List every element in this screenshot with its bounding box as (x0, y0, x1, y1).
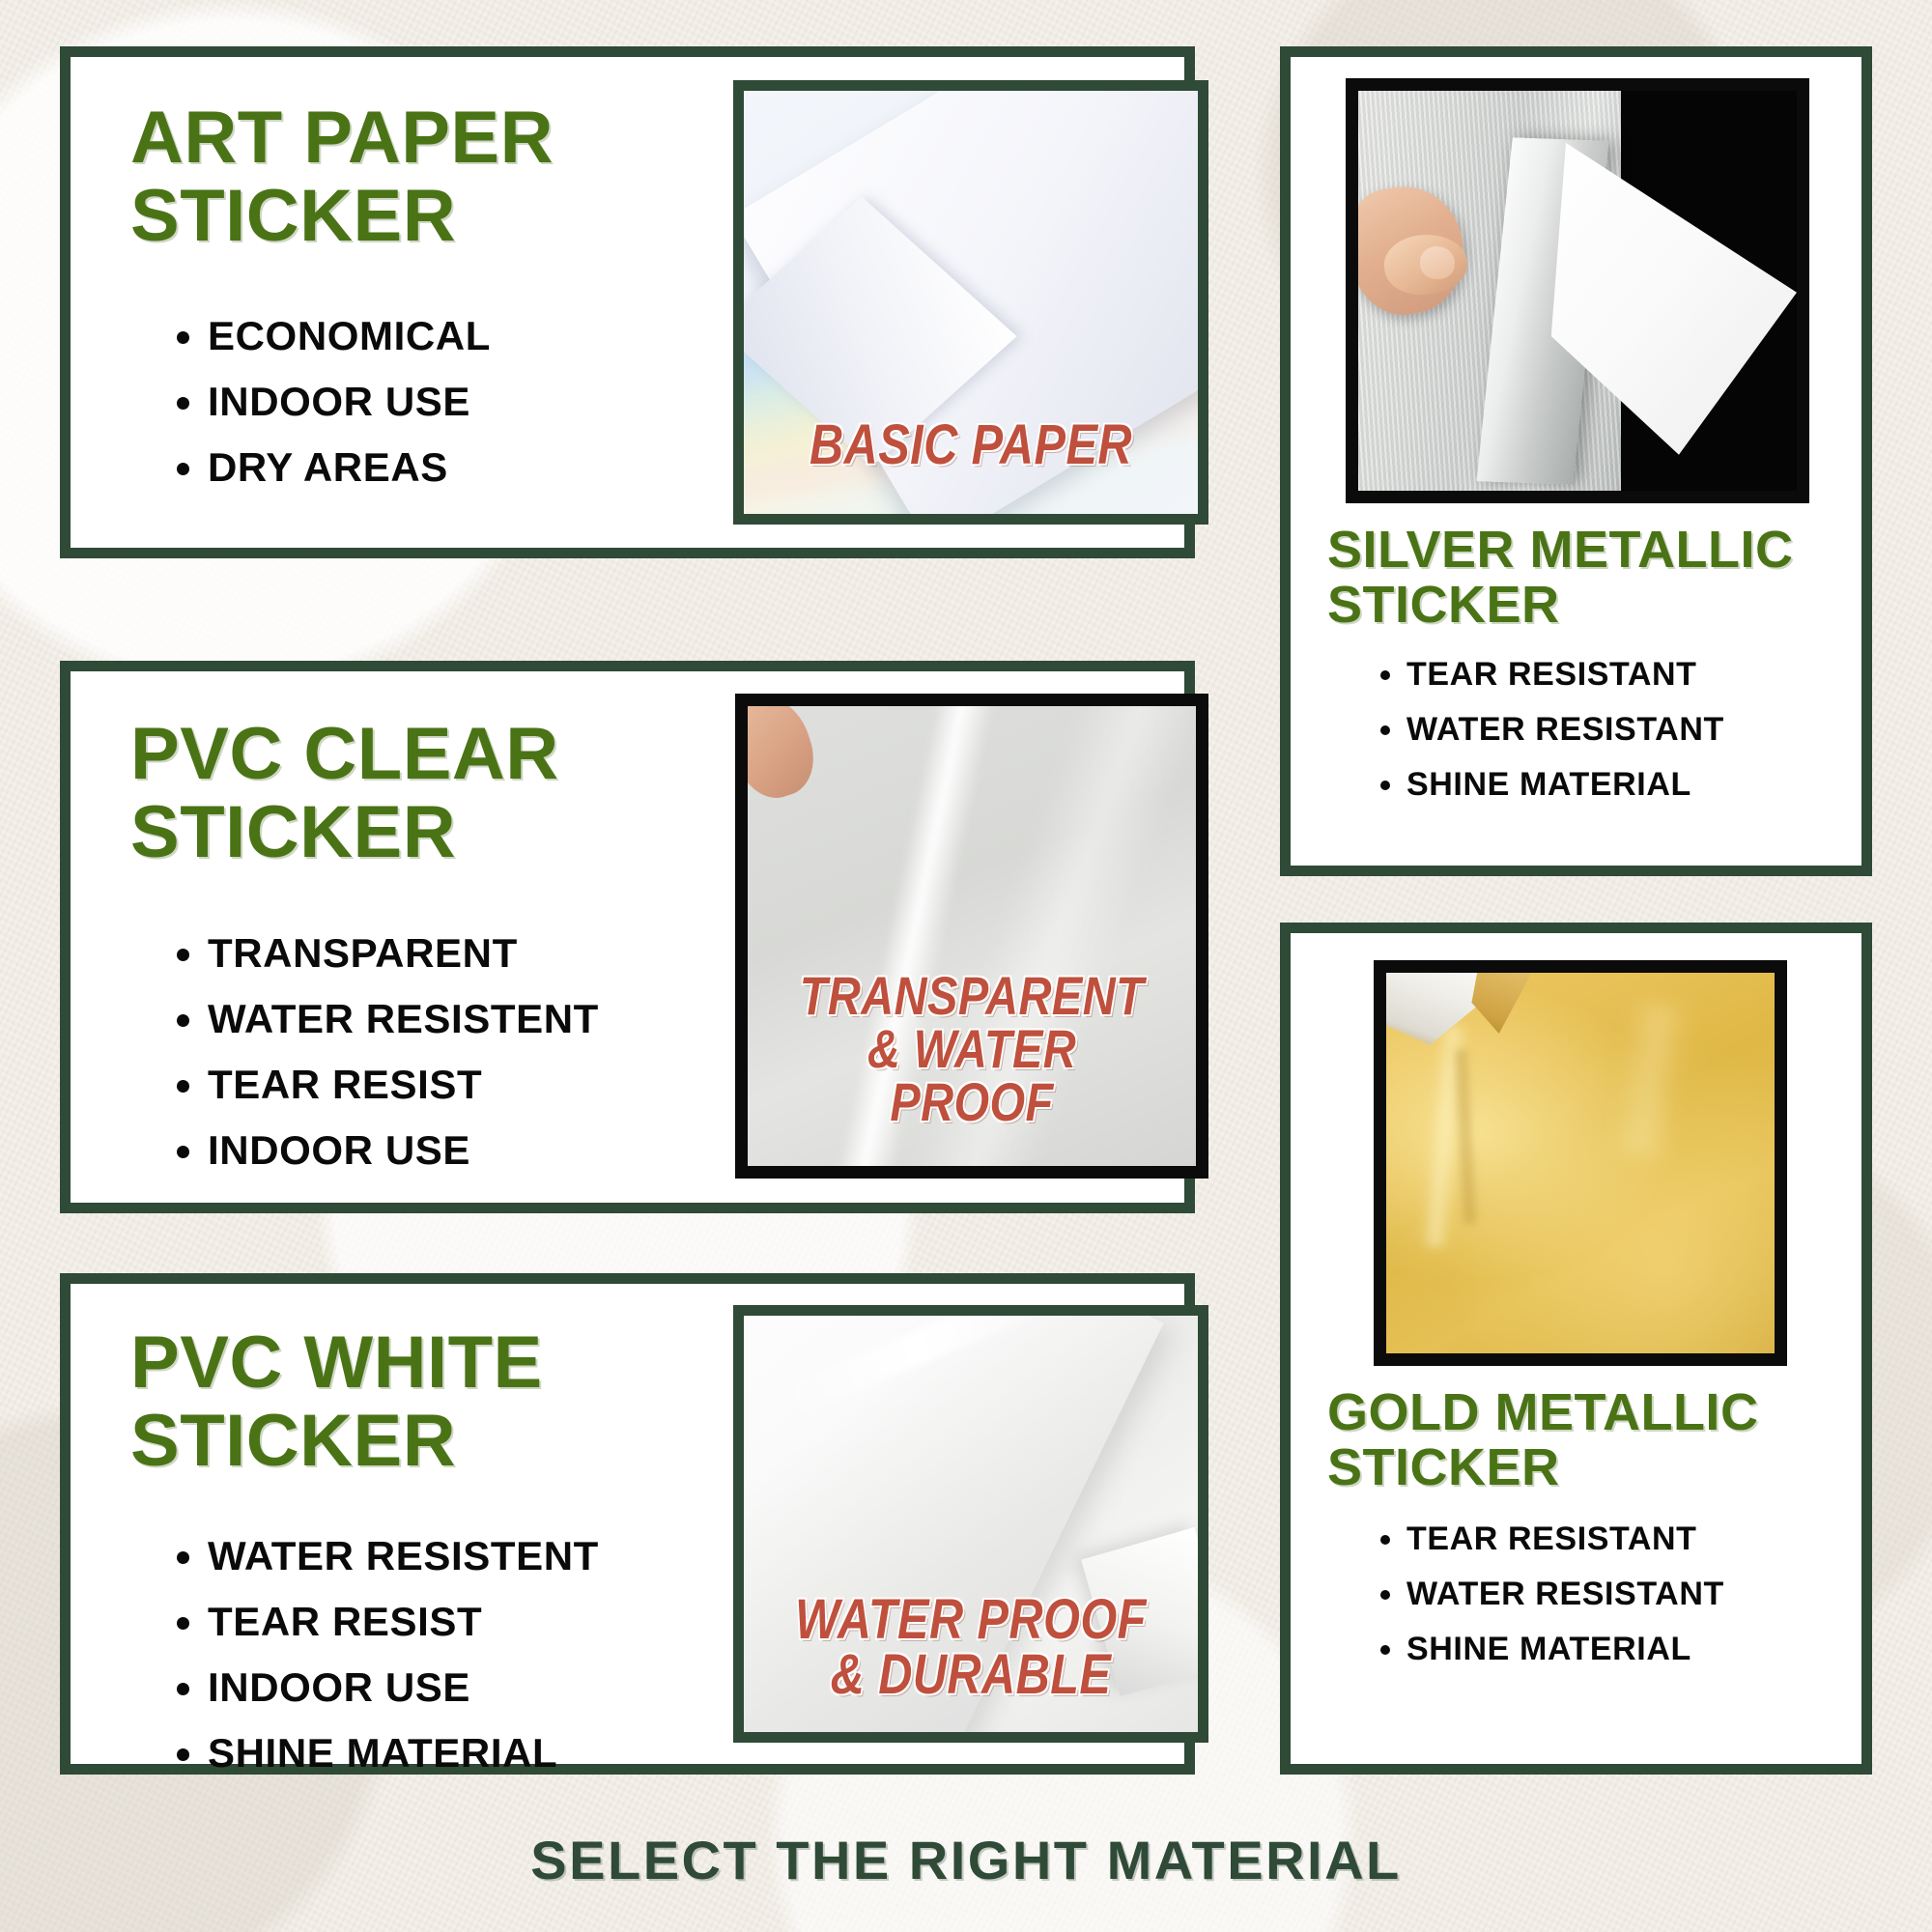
list-item: DRY AREAS (208, 444, 749, 491)
list-item: WATER RESISTANT (1406, 1576, 1899, 1613)
card-pvc-white-title: PVC WHITE STICKER (130, 1324, 749, 1480)
card-pvc-clear-title: PVC CLEAR STICKER (130, 716, 749, 871)
card-art-paper-photo-frame[interactable]: BASIC PAPER (733, 80, 1208, 525)
list-item: WATER RESISTENT (208, 1533, 787, 1579)
list-item: TRANSPARENT (208, 930, 787, 977)
thumb-shape (748, 706, 824, 808)
card-silver-photo-frame[interactable] (1346, 78, 1809, 503)
list-item: INDOOR USE (208, 1664, 787, 1711)
list-item: TEAR RESIST (208, 1599, 787, 1645)
card-pvc-white-sticker[interactable]: PVC WHITE STICKER WATER RESISTENT TEAR R… (60, 1273, 1195, 1775)
card-gold-feature-list: TEAR RESISTANT WATER RESISTANT SHINE MAT… (1366, 1520, 1899, 1686)
list-item: INDOOR USE (208, 379, 749, 425)
card-gold-photo-frame[interactable] (1374, 960, 1787, 1366)
card-gold-metallic-sticker[interactable]: GOLD METALLIC STICKER TEAR RESISTANT WAT… (1280, 923, 1872, 1775)
card-silver-title: SILVER METALLIC STICKER (1327, 523, 1868, 633)
card-art-paper-title: ART PAPER STICKER (130, 99, 729, 255)
card-art-paper-feature-list: ECONOMICAL INDOOR USE DRY AREAS (167, 313, 749, 510)
overlay-label-basic-paper: BASIC PAPER (781, 418, 1162, 473)
list-item: SHINE MATERIAL (1406, 1631, 1899, 1668)
card-pvc-clear-sticker[interactable]: PVC CLEAR STICKER TRANSPARENT WATER RESI… (60, 661, 1195, 1213)
card-pvc-clear-feature-list: TRANSPARENT WATER RESISTENT TEAR RESIST … (167, 930, 787, 1193)
footer-title: SELECT THE RIGHT MATERIAL (0, 1829, 1932, 1891)
card-pvc-white-content: PVC WHITE STICKER WATER RESISTENT TEAR R… (71, 1284, 1184, 1764)
list-item: TEAR RESIST (208, 1062, 787, 1108)
card-gold-title: GOLD METALLIC STICKER (1327, 1385, 1868, 1495)
card-silver-content: SILVER METALLIC STICKER TEAR RESISTANT W… (1291, 57, 1861, 866)
overlay-label-transparent-waterproof: TRANSPARENT & WATER PROOF (783, 970, 1160, 1129)
card-silver-feature-list: TEAR RESISTANT WATER RESISTANT SHINE MAT… (1366, 656, 1899, 821)
card-pvc-clear-content: PVC CLEAR STICKER TRANSPARENT WATER RESI… (71, 671, 1184, 1203)
list-item: SHINE MATERIAL (1406, 766, 1899, 804)
list-item: WATER RESISTANT (1406, 711, 1899, 749)
list-item: TEAR RESISTANT (1406, 656, 1899, 694)
card-pvc-white-photo-frame[interactable]: WATER PROOF & DURABLE (733, 1305, 1208, 1743)
list-item: INDOOR USE (208, 1127, 787, 1174)
list-item: TEAR RESISTANT (1406, 1520, 1899, 1558)
card-pvc-white-feature-list: WATER RESISTENT TEAR RESIST INDOOR USE S… (167, 1533, 787, 1796)
gold-wrinkle-shadow (1452, 1048, 1481, 1224)
card-silver-metallic-sticker[interactable]: SILVER METALLIC STICKER TEAR RESISTANT W… (1280, 46, 1872, 876)
overlay-label-waterproof-durable: WATER PROOF & DURABLE (781, 1593, 1162, 1703)
gold-sheen (1609, 1000, 1692, 1159)
card-art-paper-sticker[interactable]: ART PAPER STICKER ECONOMICAL INDOOR USE … (60, 46, 1195, 558)
card-pvc-clear-photo-frame[interactable]: TRANSPARENT & WATER PROOF (735, 694, 1208, 1179)
card-art-paper-content: ART PAPER STICKER ECONOMICAL INDOOR USE … (71, 57, 1184, 548)
infographic-canvas: ART PAPER STICKER ECONOMICAL INDOOR USE … (0, 0, 1932, 1932)
silver-metallic-sticker-photo (1358, 91, 1797, 491)
list-item: WATER RESISTENT (208, 996, 787, 1042)
gold-peel-edge-shape (1471, 973, 1533, 1034)
gold-metallic-sticker-photo (1386, 973, 1775, 1353)
fingernail-shape (1420, 246, 1455, 278)
list-item: SHINE MATERIAL (208, 1730, 787, 1776)
card-gold-content: GOLD METALLIC STICKER TEAR RESISTANT WAT… (1291, 933, 1861, 1764)
list-item: ECONOMICAL (208, 313, 749, 359)
